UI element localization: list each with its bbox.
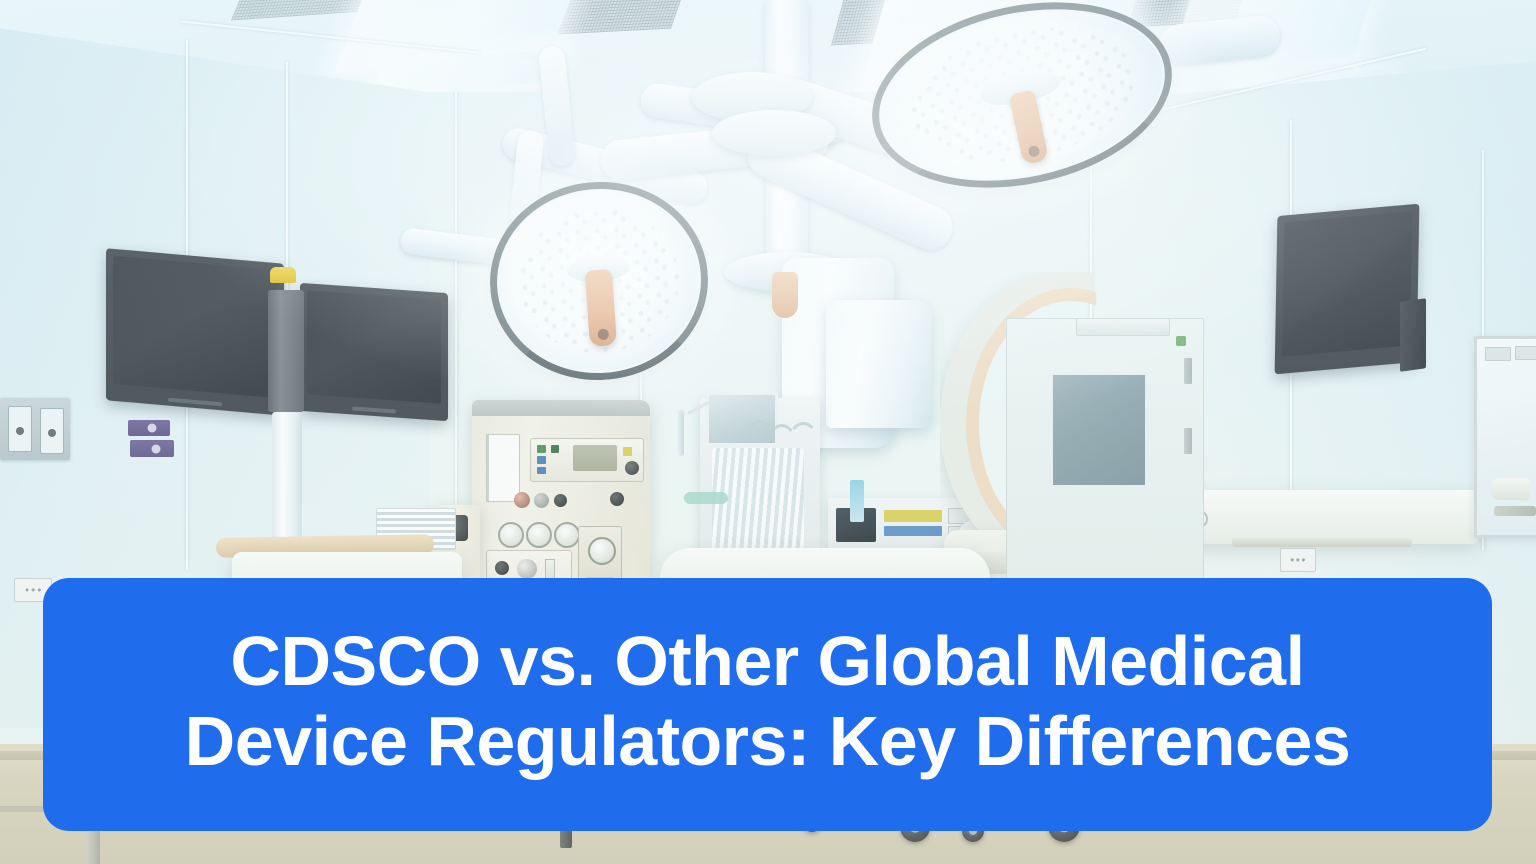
data-port-plate: [128, 420, 170, 436]
whiteboard-clip: [1485, 347, 1511, 361]
anesthesia-top-shelf: [472, 400, 650, 416]
pressure-gauge-icon: [498, 522, 524, 548]
surgical-lamp-handle-icon: [585, 269, 617, 347]
wall-monitor-screen: [1282, 211, 1412, 356]
gas-outlet-icon: [0, 398, 70, 460]
status-indicator: [537, 456, 546, 464]
anesthesia-display: [573, 445, 617, 471]
pressure-gauge-icon: [526, 522, 552, 548]
control-knob-icon: [610, 492, 624, 506]
monitor-screen: [113, 256, 277, 398]
table-rail: [1232, 538, 1412, 547]
control-knob-icon: [517, 559, 537, 579]
table-rail: [1494, 506, 1536, 516]
status-indicator: [537, 445, 546, 453]
fluid-bag-icon: [850, 480, 864, 522]
flowmeter-tubes: [486, 434, 520, 502]
anesthesia-control-panel: [530, 438, 644, 482]
monitor-screen: [307, 290, 441, 403]
door-closer-icon: [1076, 318, 1170, 336]
wall-monitor-icon: [1275, 204, 1420, 375]
power-socket-icon: [1280, 548, 1316, 572]
title-line-1: CDSCO vs. Other Global Medical: [230, 622, 1304, 701]
door-hinge-icon: [1184, 358, 1192, 384]
door-status-indicator: [1176, 336, 1186, 346]
control-knob-icon: [495, 561, 509, 575]
monitor-mount-bracket: [268, 290, 304, 412]
pressure-gauge-icon: [554, 522, 580, 548]
status-indicator: [623, 447, 632, 456]
whiteboard-clip: [1515, 346, 1536, 360]
door-hinge-icon: [1184, 428, 1192, 454]
control-knob-icon: [534, 493, 549, 508]
status-indicator: [551, 445, 559, 453]
iv-pole: [678, 410, 684, 456]
surgical-lamp-hub: [712, 110, 836, 156]
monitor-brand-mark: [352, 406, 396, 413]
vaporizer-dial: [588, 537, 616, 565]
title-banner: CDSCO vs. Other Global Medical Device Re…: [43, 578, 1492, 831]
status-indicator: [537, 467, 546, 474]
unit-indicator: [884, 510, 942, 522]
monitor-icon: [106, 248, 284, 416]
pendant-hook-icon: [772, 272, 798, 318]
article-header-image: CDSCO vs. Other Global Medical Device Re…: [0, 0, 1536, 864]
wall-monitor-mount: [1400, 298, 1426, 372]
control-knob-icon: [554, 494, 567, 507]
wall-seam: [455, 90, 457, 570]
gas-outlet-port: [40, 408, 64, 454]
unit-indicator: [884, 526, 942, 536]
monitor-brand-mark: [168, 398, 222, 407]
crank-handle-icon: [1490, 478, 1530, 500]
title-line-2: Device Regulators: Key Differences: [185, 702, 1351, 781]
control-knob-icon: [514, 492, 530, 508]
monitor-icon: [300, 283, 448, 421]
gas-outlet-port: [8, 406, 32, 452]
data-port-plate: [130, 440, 174, 457]
control-knob-icon: [625, 461, 639, 475]
door-window: [1050, 372, 1148, 488]
pendant-shelf: [826, 300, 932, 428]
emergency-button-icon: [270, 267, 296, 283]
breathing-tube-icon: [684, 492, 728, 504]
